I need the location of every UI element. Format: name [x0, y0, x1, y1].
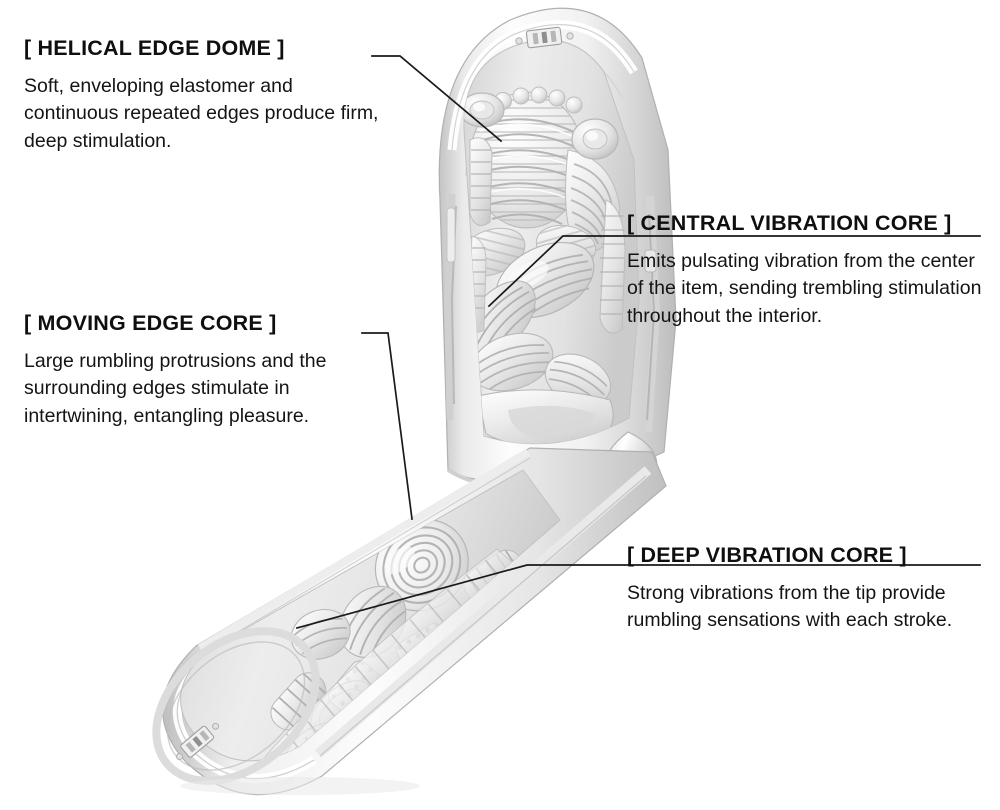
callout-deep-vibration-core: [ DEEP VIBRATION CORE ] Strong vibration… [627, 544, 987, 635]
ring-disc-right [572, 119, 618, 159]
callout-body: Strong vibrations from the tip provide r… [627, 580, 987, 635]
callout-heading: [ MOVING EDGE CORE ] [24, 312, 364, 335]
callout-heading: [ HELICAL EDGE DOME ] [24, 37, 384, 60]
diagram-stage: [ HELICAL EDGE DOME ] Soft, enveloping e… [0, 0, 1000, 810]
callout-helical-edge-dome: [ HELICAL EDGE DOME ] Soft, enveloping e… [24, 37, 384, 156]
callout-body: Large rumbling protrusions and the surro… [24, 348, 364, 431]
callout-body: Emits pulsating vibration from the cente… [627, 248, 992, 331]
callout-moving-edge-core: [ MOVING EDGE CORE ] Large rumbling prot… [24, 312, 364, 431]
callout-central-vibration-core: [ CENTRAL VIBRATION CORE ] Emits pulsati… [627, 212, 992, 331]
callout-heading: [ CENTRAL VIBRATION CORE ] [627, 212, 992, 235]
callout-body: Soft, enveloping elastomer and continuou… [24, 73, 384, 156]
callout-heading: [ DEEP VIBRATION CORE ] [627, 544, 987, 567]
product-lower-arm [127, 448, 666, 810]
